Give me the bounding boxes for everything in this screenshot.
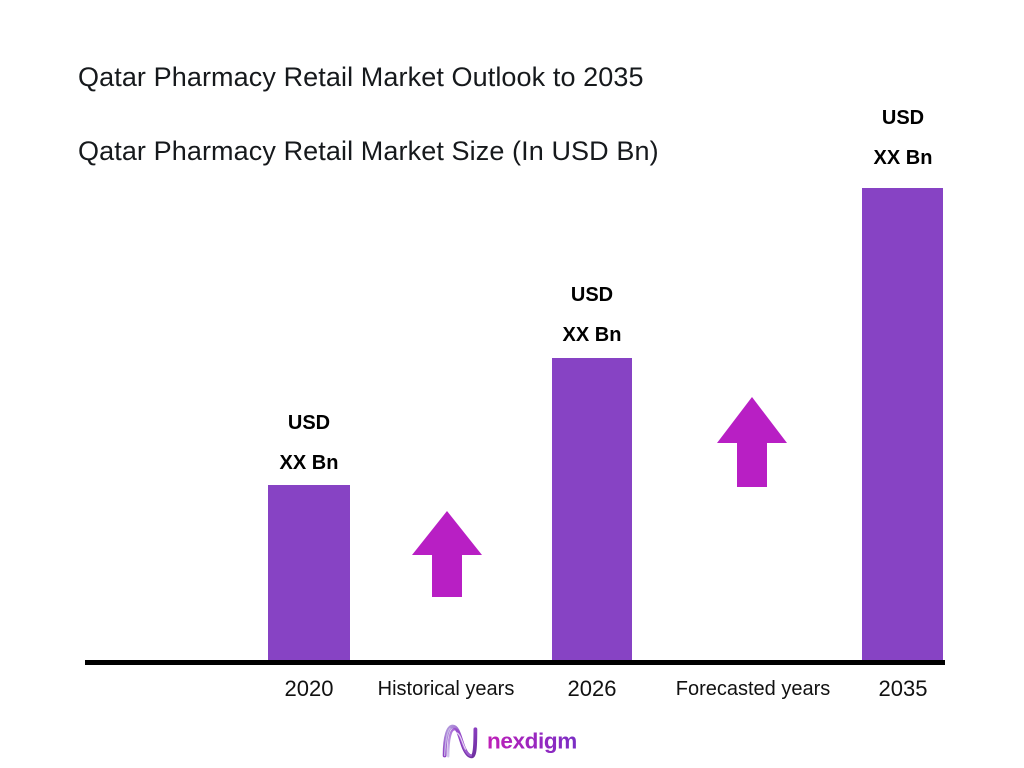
bar-value-label-2035: USD XX Bn [845,98,961,178]
bar-value-label-2020-line2: XX Bn [248,443,370,483]
bar-value-label-2035-line2: XX Bn [845,138,961,178]
axis-label-forecasted-years: Forecasted years [651,678,855,701]
brand-logo: nexdigm [440,720,592,762]
nexdigm-wordmark-text: nexdigm [487,729,577,754]
bar-value-label-2026: USD XX Bn [530,275,654,355]
bar-value-label-2026-line1: USD [530,275,654,315]
chart-title: Qatar Pharmacy Retail Market Outlook to … [78,62,644,93]
axis-baseline [85,660,945,665]
axis-label-2020: 2020 [249,676,369,702]
chart-subtitle: Qatar Pharmacy Retail Market Size (In US… [78,136,659,167]
nexdigm-wordmark: nexdigm [487,726,637,756]
arrow-up-icon-historical [412,511,482,599]
axis-label-historical-years: Historical years [352,678,540,701]
bar-value-label-2026-line2: XX Bn [530,315,654,355]
axis-label-2035: 2035 [843,676,963,702]
bar-2026 [552,358,632,662]
bar-2035 [862,188,943,662]
nexdigm-n-mark-icon [440,722,480,760]
arrow-up-icon-forecasted [717,397,787,489]
bar-value-label-2020: USD XX Bn [248,403,370,483]
bar-value-label-2020-line1: USD [248,403,370,443]
axis-label-2026: 2026 [532,676,652,702]
chart-canvas: Qatar Pharmacy Retail Market Outlook to … [0,0,1024,768]
bar-2020 [268,485,350,662]
bar-value-label-2035-line1: USD [845,98,961,138]
